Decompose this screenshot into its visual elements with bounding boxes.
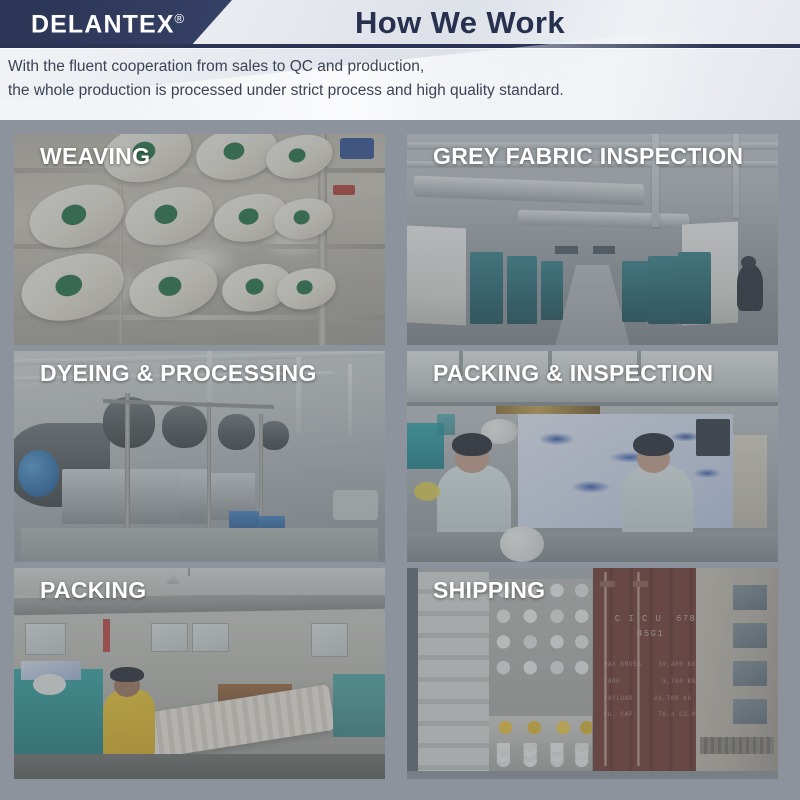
container-cucap-label: CU. CAP. 76.4 CU.M bbox=[604, 711, 696, 718]
process-cell-packing-inspection[interactable]: PACKING & INSPECTION bbox=[407, 351, 778, 562]
cell-label-packing-inspection: PACKING & INSPECTION bbox=[433, 360, 713, 387]
brand-logo-text: DELANTEX® bbox=[0, 12, 184, 37]
container-size-type-text: 45G1 bbox=[637, 629, 664, 639]
process-cell-weaving[interactable]: WEAVING bbox=[14, 134, 385, 345]
cell-label-packing: PACKING bbox=[40, 577, 146, 604]
ceiling-lamp-icon bbox=[166, 572, 180, 584]
brand-logo-name: DELANTEX bbox=[31, 10, 175, 38]
container-payload-label: PAYLOAD 26,780 KG bbox=[604, 695, 692, 702]
page-header: How We Work DELANTEX® With the fluent co… bbox=[0, 0, 800, 120]
container-code-text: C I C U 678802 6 bbox=[615, 614, 737, 624]
container-tare-label: TARE 3,700 KG bbox=[604, 678, 696, 685]
cell-label-weaving: WEAVING bbox=[40, 143, 150, 170]
cell-label-dyeing-processing: DYEING & PROCESSING bbox=[40, 360, 317, 387]
registered-trademark-icon: ® bbox=[175, 11, 185, 26]
cell-label-grey-fabric-inspection: GREY FABRIC INSPECTION bbox=[433, 143, 743, 170]
process-cell-dyeing-processing[interactable]: DYEING & PROCESSING bbox=[14, 351, 385, 562]
process-cell-shipping[interactable]: C I C U 678802 6 45G1 MAX GROSS 30,480 K… bbox=[407, 568, 778, 779]
process-cell-packing[interactable]: PACKING bbox=[14, 568, 385, 779]
cell-label-shipping: SHIPPING bbox=[433, 577, 545, 604]
process-grid: WEAVING GREY FABRIC INSPECTION bbox=[0, 120, 800, 800]
subtitle-line-2: the whole production is processed under … bbox=[8, 79, 792, 103]
header-divider-highlight bbox=[0, 48, 800, 49]
process-cell-grey-fabric-inspection[interactable]: GREY FABRIC INSPECTION bbox=[407, 134, 778, 345]
container-maxgross-label: MAX GROSS 30,480 KG bbox=[604, 661, 696, 668]
header-subtitle: With the fluent cooperation from sales t… bbox=[0, 55, 800, 103]
subtitle-line-1: With the fluent cooperation from sales t… bbox=[8, 55, 792, 79]
